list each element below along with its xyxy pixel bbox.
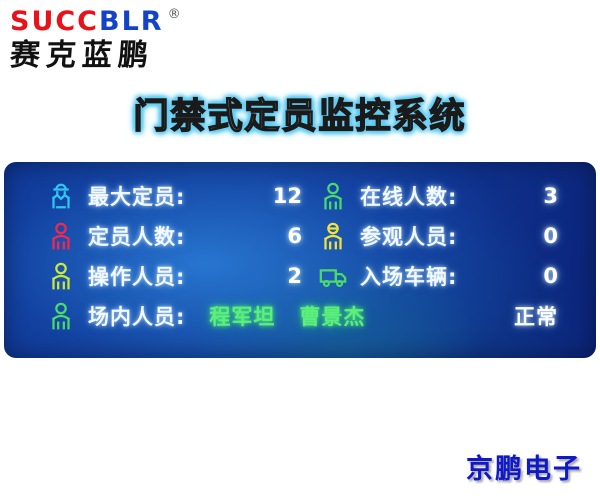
led-label: 定员人数: xyxy=(88,221,185,251)
led-cell-online-count: 在线人数: 3 xyxy=(318,176,558,216)
led-cell-max-capacity: 最大定员: 12 xyxy=(46,176,318,216)
led-value: 6 xyxy=(287,224,318,248)
led-row: 定员人数: 6 参观人员: 0 xyxy=(46,216,558,256)
led-cell-operator-count: 操作人员: 2 xyxy=(46,256,318,296)
led-value: 0 xyxy=(543,224,558,248)
page-title: 门禁式定员监控系统 xyxy=(0,88,600,139)
led-content: 最大定员: 12 在线人数: 3 xyxy=(46,176,558,342)
person-hardhat-icon xyxy=(46,181,76,211)
status-badge: 正常 xyxy=(514,301,558,331)
truck-icon xyxy=(318,261,348,291)
led-label: 在线人数: xyxy=(360,181,457,211)
led-label: 操作人员: xyxy=(88,261,185,291)
footer-company-name: 京鹏电子 xyxy=(466,447,582,486)
brand-logo: SUCCBLR® 赛克蓝鹏 xyxy=(10,8,240,72)
led-value: 12 xyxy=(273,184,318,208)
led-cell-visitor-count: 参观人员: 0 xyxy=(318,216,558,256)
wordmark-part2: BLR xyxy=(99,6,164,37)
led-row: 最大定员: 12 在线人数: 3 xyxy=(46,176,558,216)
led-cell-vehicle-count: 入场车辆: 0 xyxy=(318,256,558,296)
person-visitor-icon xyxy=(318,221,348,251)
person-icon xyxy=(318,181,348,211)
led-label: 最大定员: xyxy=(88,181,185,211)
onsite-name: 程军坦 xyxy=(209,301,275,331)
person-icon xyxy=(46,221,76,251)
brand-chinese-name: 赛克蓝鹏 xyxy=(9,41,241,71)
led-display-panel: 最大定员: 12 在线人数: 3 xyxy=(4,162,596,358)
registered-trademark-icon: ® xyxy=(168,7,183,22)
led-row-onsite: 场内人员: 程军坦 曹景杰 正常 xyxy=(46,296,558,336)
wordmark-part1: SUCC xyxy=(10,6,99,37)
onsite-name: 曹景杰 xyxy=(299,301,365,331)
person-icon xyxy=(46,261,76,291)
led-cell-registered-count: 定员人数: 6 xyxy=(46,216,318,256)
led-row: 操作人员: 2 入场车辆: 0 xyxy=(46,256,558,296)
led-value: 0 xyxy=(543,264,558,288)
led-label: 场内人员: xyxy=(88,301,185,331)
person-icon xyxy=(46,301,76,331)
brand-wordmark: SUCCBLR® xyxy=(10,8,240,35)
led-label: 入场车辆: xyxy=(360,261,457,291)
led-value: 3 xyxy=(543,184,558,208)
led-label: 参观人员: xyxy=(360,221,457,251)
led-value: 2 xyxy=(287,264,318,288)
led-cell-onsite-personnel: 场内人员: 程军坦 曹景杰 正常 xyxy=(46,296,558,336)
